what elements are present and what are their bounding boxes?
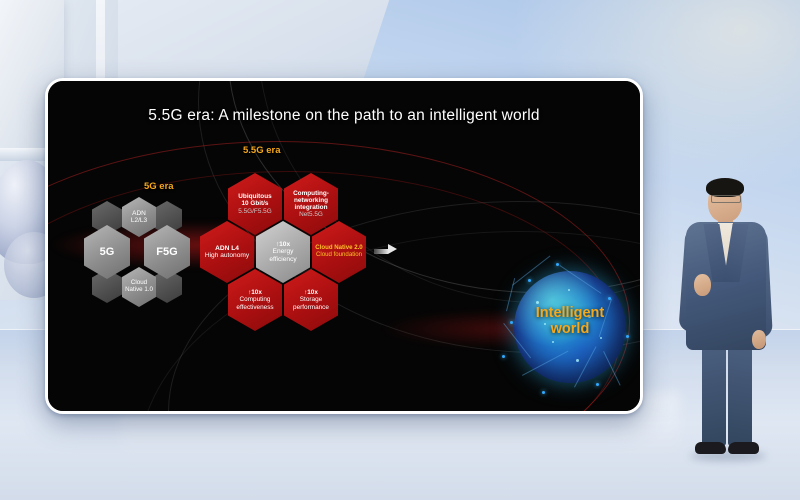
- keynote-stage-scene: 5.5G era: A milestone on the path to an …: [0, 0, 800, 500]
- intelligent-world-label: Intelligent world: [500, 305, 640, 337]
- hex-title: ↑10x: [236, 289, 273, 296]
- presenter-hand-right: [752, 330, 766, 349]
- hex-subtitle: High autonomy: [205, 252, 249, 259]
- hex-title: Ubiquitous: [238, 193, 271, 200]
- intelligent-world-globe[interactable]: Intelligent world: [500, 259, 640, 399]
- hex-title: 5G: [100, 246, 115, 258]
- hex-meta: 5.5G/F5.5G: [238, 208, 271, 215]
- hex-meta: Net5.5G: [293, 211, 329, 218]
- presenter-leg-right: [728, 342, 752, 446]
- presenter-hand-gesture: [694, 274, 711, 296]
- presenter-shoe-right: [728, 442, 759, 454]
- presentation-display-panel: 5.5G era: A milestone on the path to an …: [45, 78, 643, 414]
- presenter-shoe-left: [695, 442, 726, 454]
- hex-title: ADN: [131, 210, 147, 217]
- hex-subtitle: networking: [293, 197, 329, 204]
- hex-title: ↑10x: [293, 289, 329, 296]
- slide-title: 5.5G era: A milestone on the path to an …: [48, 107, 640, 125]
- globe-label-line-1: Intelligent: [536, 305, 604, 321]
- hex-title: ↑10x: [259, 241, 307, 248]
- hex-subtitle: Cloud foundation: [315, 252, 362, 259]
- hex-subtitle: Native 1.0: [125, 287, 153, 294]
- era-label-5g: 5G era: [144, 181, 174, 192]
- presenter-leg-left: [702, 342, 726, 446]
- hex-subtitle: Storage: [293, 296, 329, 303]
- hex-subtitle-2: effectiveness: [236, 304, 273, 311]
- slide-canvas: 5.5G era: A milestone on the path to an …: [48, 81, 640, 411]
- presenter-figure: [672, 170, 780, 462]
- hex-subtitle: Computing: [236, 296, 273, 303]
- hex-subtitle-2: integration: [293, 204, 329, 211]
- era-label-55g: 5.5G era: [243, 145, 281, 156]
- globe-label-line-2: world: [551, 321, 590, 337]
- hex-title: F5G: [156, 246, 177, 258]
- hex-title: ADN L4: [205, 245, 249, 252]
- flow-arrow-2-stem: [374, 249, 388, 254]
- hex-title: Computing-: [293, 190, 329, 197]
- flow-arrow-2: [388, 244, 397, 254]
- glasses-icon: [711, 195, 741, 203]
- hex-subtitle: L2/L3: [131, 217, 147, 224]
- hex-subtitle: Energy efficiency: [259, 248, 307, 263]
- hex-subtitle-2: performance: [293, 304, 329, 311]
- hex-subtitle: 10 Gbit/s: [238, 200, 271, 207]
